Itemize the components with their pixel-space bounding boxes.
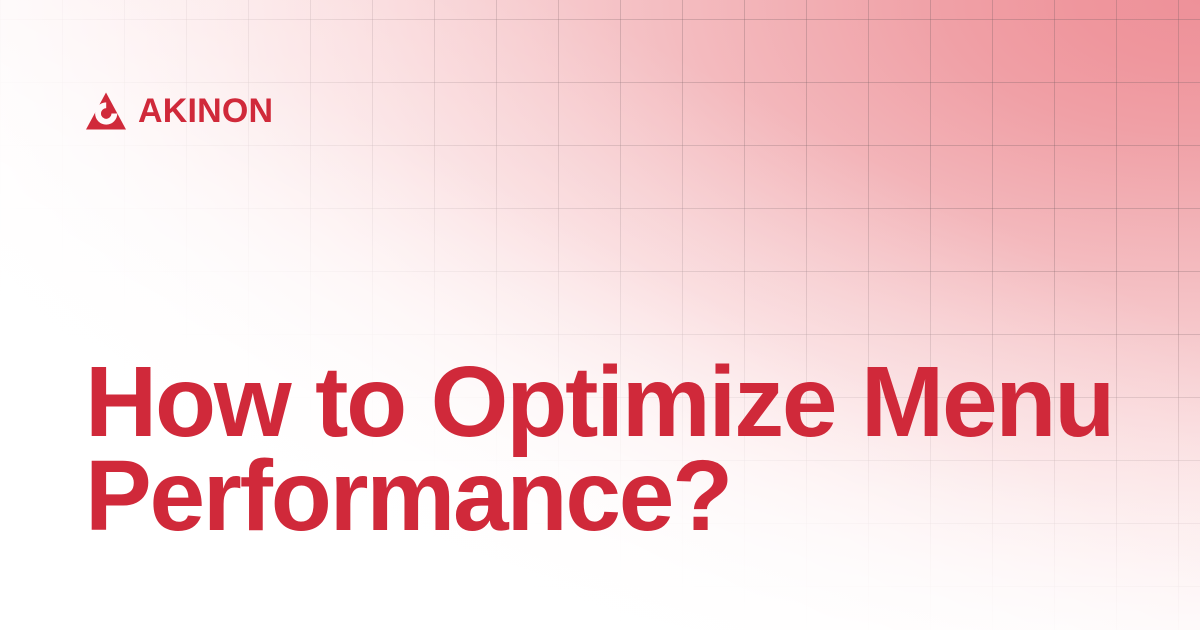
akinon-wordmark: AKINON	[138, 94, 273, 128]
page-title-line-2: Performance?	[85, 449, 1145, 543]
akinon-logo[interactable]: AKINON	[85, 88, 273, 134]
blog-cover-card: AKINON How to Optimize Menu Performance?	[0, 0, 1200, 630]
page-title: How to Optimize Menu Performance?	[85, 355, 1145, 543]
page-title-line-1: How to Optimize Menu	[85, 355, 1145, 449]
akinon-triangle-logo-icon	[85, 91, 127, 131]
